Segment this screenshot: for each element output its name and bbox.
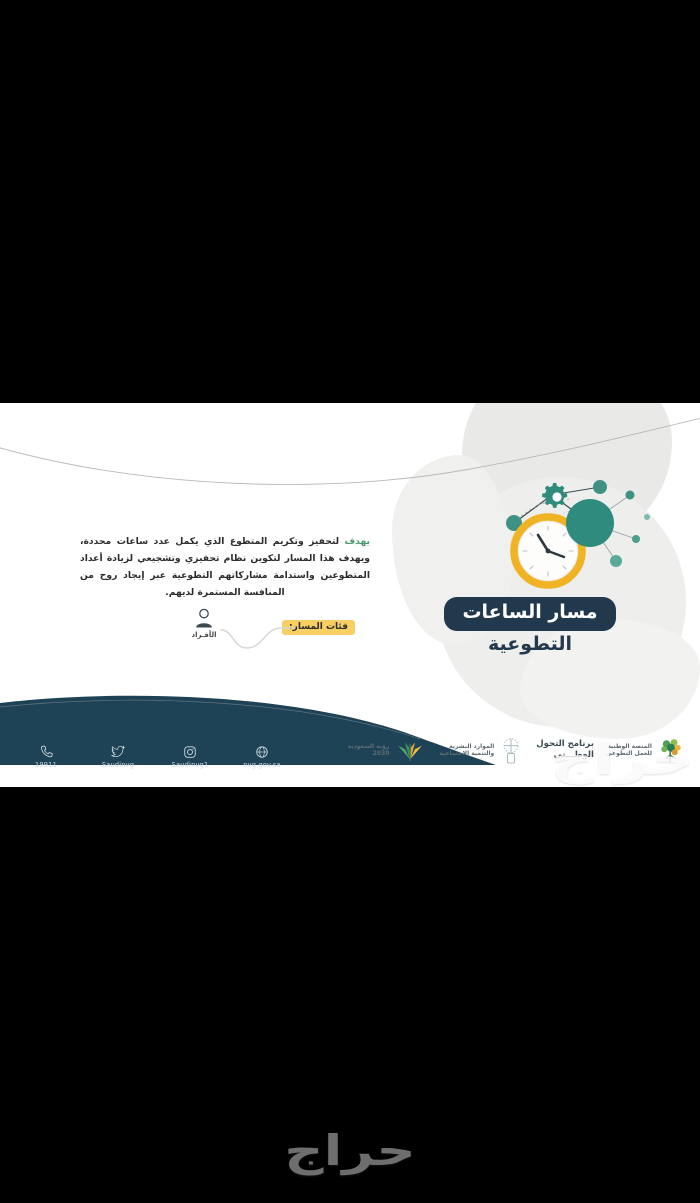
phone-icon [39,744,54,759]
big-teal-circle [566,499,614,547]
footer-wave-shape [0,677,700,787]
tree-logo-icon [656,735,686,765]
contact-item-phone[interactable]: 19911 [22,744,70,769]
page-subtitle: التطوعية [420,634,640,655]
partner-text-vision-2030: رؤية السعودية2030 [348,743,390,758]
vision2030-logo-icon [393,735,427,765]
contact-label-website: nvg.gov.sa [238,761,286,769]
globe-icon [255,745,269,759]
description-lead-word: يهدف [345,536,371,547]
partner-logo-national-volunteer-portal: المنصة الوطنيةللعمل التطوعي [606,735,686,765]
description-paragraph: يهدف لتحفيز وتكريم المتطوع الذي يكمل عدد… [80,533,370,601]
contact-item-website[interactable]: nvg.gov.sa [238,745,286,769]
contact-item-twitter[interactable]: Saudinvg [94,744,142,769]
infographic-card: يهدف لتحفيز وتكريم المتطوع الذي يكمل عدد… [0,403,700,787]
contact-list: 19911 Saudinvg Saudinvg1 [22,744,286,769]
contact-label-instagram: Saudinvg1 [166,761,214,769]
hrsd-logo-icon [498,736,524,764]
category-individuals-label: الأفـراد [180,631,228,639]
partner-logo-national-transformation-program: برنامج التحولالوطـــني [536,739,594,760]
partner-text-national-transformation-program: برنامج التحولالوطـــني [536,739,594,760]
partner-logo-ministry-human-resources: الموارد البشريةوالتنمية الاجتماعية [439,736,524,764]
description-body-text: لتحفيز وتكريم المتطوع الذي يكمل عدد ساعا… [80,536,370,598]
contact-label-twitter: Saudinvg [94,761,142,769]
person-icon [194,608,214,630]
video-stage: يهدف لتحفيز وتكريم المتطوع الذي يكمل عدد… [0,0,700,1203]
instagram-icon [183,745,197,759]
contact-label-phone: 19911 [22,761,70,769]
partner-text-national-volunteer-portal: المنصة الوطنيةللعمل التطوعي [606,743,652,758]
category-individuals: الأفـراد [180,608,228,639]
haraj-watermark-bottom: حراج [0,1126,700,1175]
contact-item-instagram[interactable]: Saudinvg1 [166,745,214,769]
categories-section: فئات المسار: الأفـراد [175,608,355,656]
page-title: مسار الساعات [444,597,615,631]
description-block: يهدف لتحفيز وتكريم المتطوع الذي يكمل عدد… [80,533,370,601]
title-block: مسار الساعات التطوعية [420,597,640,655]
hero-illustration [440,465,670,595]
partner-text-ministry-human-resources: الموارد البشريةوالتنمية الاجتماعية [439,743,494,758]
categories-label: فئات المسار: [282,620,355,635]
partner-logo-vision-2030: رؤية السعودية2030 [348,735,428,765]
twitter-icon [110,744,126,759]
partner-logos: المنصة الوطنيةللعمل التطوعي برنامج التحو… [348,735,686,765]
gear-icon [542,483,567,508]
